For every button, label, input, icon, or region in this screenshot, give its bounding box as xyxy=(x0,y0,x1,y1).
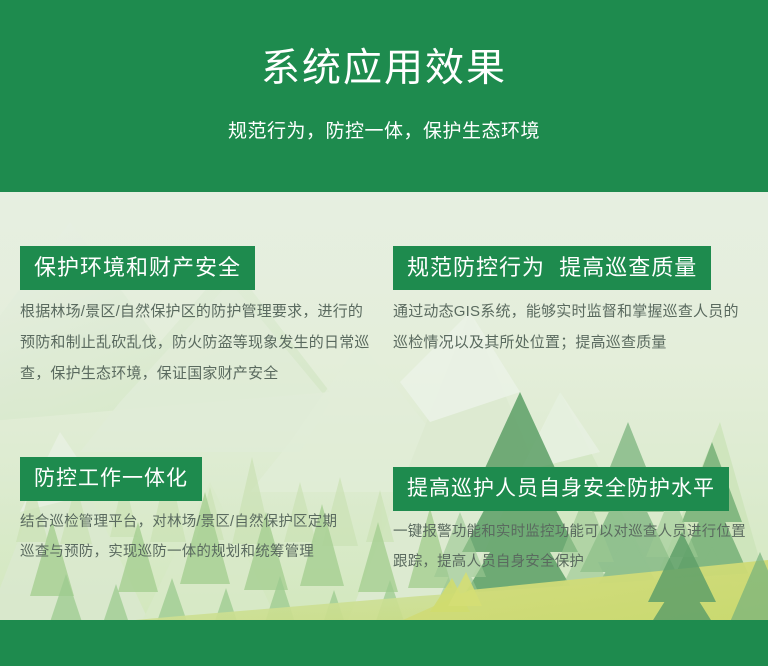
feature-heading-standardize-control-behavior: 规范防控行为 提高巡查质量 xyxy=(393,246,711,290)
feature-heading-integrated-prevention-work: 防控工作一体化 xyxy=(20,457,202,501)
feature-body-integrated-prevention-work: 结合巡检管理平台，对林场/景区/自然保护区定期巡查与预防，实现巡防一体的规划和统… xyxy=(20,507,350,567)
feature-card-protect-environment-and-property: 保护环境和财产安全 根据林场/景区/自然保护区的防护管理要求，进行的预防和制止乱… xyxy=(20,246,372,389)
system-application-effect-page: 系统应用效果 规范行为，防控一体，保护生态环境 xyxy=(0,0,768,666)
feature-body-standardize-control-behavior: 通过动态GIS系统，能够实时监督和掌握巡查人员的巡检情况以及其所处位置；提高巡查… xyxy=(393,296,751,358)
footer-bar xyxy=(0,620,768,666)
feature-body-protect-environment-and-property: 根据林场/景区/自然保护区的防护管理要求，进行的预防和制止乱砍乱伐，防火防盗等现… xyxy=(20,296,372,389)
page-header-banner: 系统应用效果 规范行为，防控一体，保护生态环境 xyxy=(0,0,768,192)
feature-card-improve-patrol-staff-safety: 提高巡护人员自身安全防护水平 一键报警功能和实时监控功能可以对巡查人员进行位置跟… xyxy=(393,467,748,577)
feature-heading-protect-environment-and-property: 保护环境和财产安全 xyxy=(20,246,255,290)
content-area: 保护环境和财产安全 根据林场/景区/自然保护区的防护管理要求，进行的预防和制止乱… xyxy=(0,192,768,666)
feature-heading-improve-patrol-staff-safety: 提高巡护人员自身安全防护水平 xyxy=(393,467,729,511)
page-subtitle: 规范行为，防控一体，保护生态环境 xyxy=(0,118,768,146)
page-title: 系统应用效果 xyxy=(0,44,768,94)
feature-card-integrated-prevention-work: 防控工作一体化 结合巡检管理平台，对林场/景区/自然保护区定期巡查与预防，实现巡… xyxy=(20,457,350,567)
feature-body-improve-patrol-staff-safety: 一键报警功能和实时监控功能可以对巡查人员进行位置跟踪，提高人员自身安全保护 xyxy=(393,517,748,577)
feature-card-standardize-control-behavior: 规范防控行为 提高巡查质量 通过动态GIS系统，能够实时监督和掌握巡查人员的巡检… xyxy=(393,246,751,358)
